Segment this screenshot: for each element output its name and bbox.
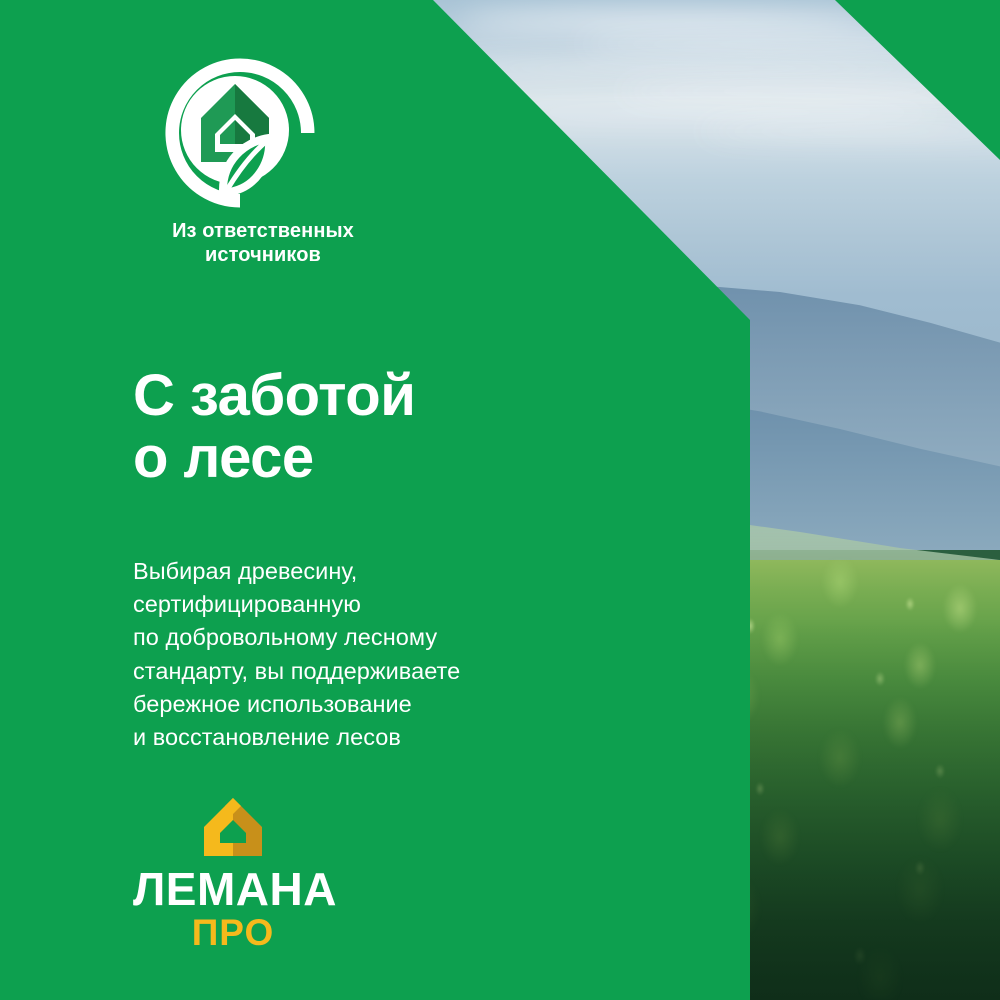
responsible-sources-house-leaf-icon: [165, 58, 315, 208]
poster-content: Из ответственных источников С заботой о …: [0, 0, 1000, 1000]
certification-badge: Из ответственных источников: [133, 58, 393, 267]
lemana-house-icon: [200, 796, 266, 858]
badge-caption: Из ответственных источников: [133, 220, 393, 267]
page-title: С заботой о лесе: [133, 365, 415, 489]
body-paragraph: Выбирая древесину, сертифицированную по …: [133, 555, 460, 755]
poster: Из ответственных источников С заботой о …: [0, 0, 1000, 1000]
brand-name: ЛЕМАНА: [133, 866, 333, 912]
lemana-pro-logo: ЛЕМАНА ПРО: [133, 796, 333, 951]
brand-suffix: ПРО: [133, 914, 333, 951]
